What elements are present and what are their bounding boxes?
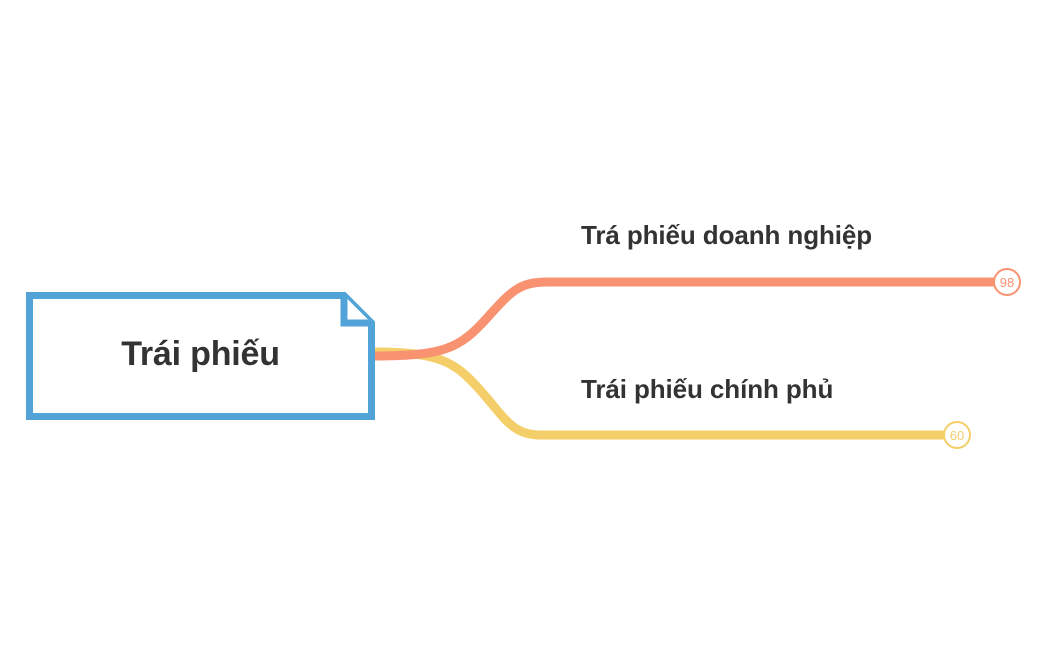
branch-badge-government[interactable]: 60: [943, 421, 971, 449]
root-node-label: Trái phiếu: [26, 292, 375, 420]
branch-line-corporate: [374, 282, 995, 356]
branch-label-government[interactable]: Trái phiếu chính phủ: [581, 374, 833, 405]
branch-badge-corporate[interactable]: 98: [993, 268, 1021, 296]
mindmap-canvas: Trái phiếu Trá phiếu doanh nghiệp 98 Trá…: [0, 0, 1048, 650]
branch-label-corporate[interactable]: Trá phiếu doanh nghiệp: [581, 220, 872, 251]
root-node[interactable]: Trái phiếu: [26, 292, 375, 420]
